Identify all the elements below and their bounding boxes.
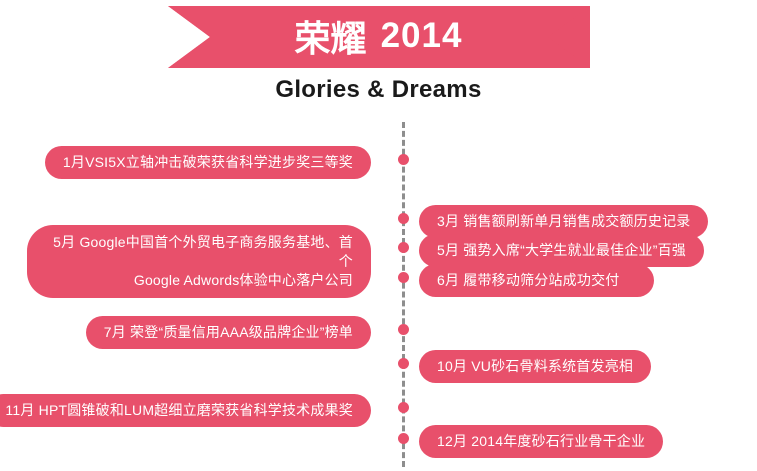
timeline: 1月VSI5X立轴冲击破荣获省科学进步奖三等奖 3月 销售额刷新单月销售成交额历… [0, 112, 757, 471]
timeline-item-text: 10月 VU砂石骨料系统首发亮相 [437, 358, 633, 374]
page-title-cn: 荣耀 [295, 10, 367, 62]
timeline-item-text: 11月 HPT圆锥破和LUM超细立磨荣获省科学技术成果奖 [5, 402, 353, 418]
timeline-dot [398, 154, 409, 165]
header-banner: 荣耀 2014 Glories & Dreams [0, 0, 757, 112]
timeline-dot [398, 242, 409, 253]
page-subtitle: Glories & Dreams [0, 76, 757, 104]
timeline-item-left-5yue[interactable]: 5月 Google中国首个外贸电子商务服务基地、首个 Google Adword… [27, 225, 371, 298]
timeline-item-text: 6月 履带移动筛分站成功交付 [437, 272, 619, 288]
timeline-dot [398, 402, 409, 413]
timeline-item-text: 7月 荣登“质量信用AAA级品牌企业”榜单 [104, 324, 353, 340]
timeline-item-left-1yue[interactable]: 1月VSI5X立轴冲击破荣获省科学进步奖三等奖 [45, 146, 371, 179]
timeline-dot [398, 433, 409, 444]
timeline-item-text: 12月 2014年度砂石行业骨干企业 [437, 433, 645, 449]
page-title-year: 2014 [381, 16, 463, 56]
page-title: 荣耀 2014 [0, 0, 757, 74]
timeline-item-text: 3月 销售额刷新单月销售成交额历史记录 [437, 213, 690, 229]
timeline-item-left-11yue[interactable]: 11月 HPT圆锥破和LUM超细立磨荣获省科学技术成果奖 [0, 394, 371, 427]
timeline-dot [398, 213, 409, 224]
timeline-item-text: 1月VSI5X立轴冲击破荣获省科学进步奖三等奖 [63, 154, 353, 170]
timeline-item-text: 5月 强势入席“大学生就业最佳企业”百强 [437, 242, 686, 258]
timeline-item-right-12yue[interactable]: 12月 2014年度砂石行业骨干企业 [419, 425, 663, 458]
timeline-item-left-7yue[interactable]: 7月 荣登“质量信用AAA级品牌企业”榜单 [86, 316, 371, 349]
timeline-axis [402, 122, 405, 467]
timeline-item-text: 5月 Google中国首个外贸电子商务服务基地、首个 [53, 234, 353, 269]
timeline-item-right-10yue[interactable]: 10月 VU砂石骨料系统首发亮相 [419, 350, 651, 383]
timeline-item-right-5yue[interactable]: 5月 强势入席“大学生就业最佳企业”百强 [419, 234, 704, 267]
timeline-item-text-line2: Google Adwords体验中心落户公司 [45, 271, 353, 290]
timeline-dot [398, 358, 409, 369]
timeline-dot [398, 324, 409, 335]
timeline-dot [398, 272, 409, 283]
timeline-item-right-6yue[interactable]: 6月 履带移动筛分站成功交付 [419, 264, 654, 297]
